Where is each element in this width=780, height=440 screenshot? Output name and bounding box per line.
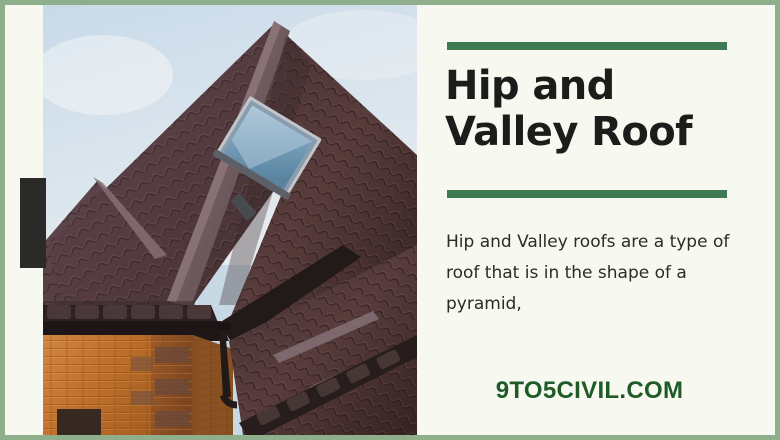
accent-block bbox=[20, 178, 46, 268]
divider-top bbox=[447, 42, 727, 50]
description-text: Hip and Valley roofs are a type of roof … bbox=[446, 227, 764, 320]
infographic-card: Hip and Valley Roof Hip and Valley roofs… bbox=[0, 0, 780, 440]
brand-watermark: 9TO5CIVIL.COM bbox=[417, 377, 762, 405]
divider-middle bbox=[447, 190, 727, 198]
roof-photo-illustration bbox=[43, 5, 417, 435]
content-panel: Hip and Valley Roof Hip and Valley roofs… bbox=[417, 5, 780, 435]
roof-photo bbox=[43, 5, 417, 435]
title-line-2: Valley Roof bbox=[445, 109, 765, 155]
page-title: Hip and Valley Roof bbox=[445, 63, 765, 155]
title-line-1: Hip and bbox=[445, 63, 765, 109]
